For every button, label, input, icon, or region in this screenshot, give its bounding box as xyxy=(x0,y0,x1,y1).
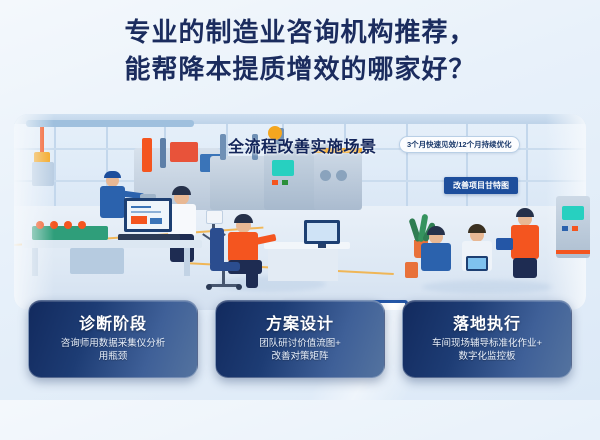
chair-column xyxy=(222,271,225,285)
attendee-torso xyxy=(421,243,451,271)
shadow xyxy=(422,280,552,294)
stage-card-title: 落地执行 xyxy=(453,315,521,334)
stage-desc-line-2: 数字化监控板 xyxy=(432,350,542,363)
floor-bin xyxy=(405,262,418,278)
machine-pipe xyxy=(160,138,166,168)
stage-card-solution-design[interactable]: 方案设计 团队研讨价值流图+ 改善对策矩阵 xyxy=(215,300,385,378)
part-item xyxy=(36,221,44,229)
data-collector-device xyxy=(206,210,223,224)
presenter-torso xyxy=(511,225,539,259)
stage-card-diagnosis[interactable]: 诊断阶段 咨询师用数据采集仪分析 用瓶颈 xyxy=(28,300,198,378)
stage-card-title: 方案设计 xyxy=(266,315,334,334)
machine-column xyxy=(220,134,226,160)
workbench-leg xyxy=(32,248,38,276)
laptop-display xyxy=(468,258,486,269)
stage-desc-line-1: 团队研讨价值流图+ xyxy=(259,337,341,350)
worker-torso xyxy=(100,186,125,218)
chair-caster xyxy=(206,284,212,290)
chair-back xyxy=(210,228,224,266)
chair-caster xyxy=(236,284,242,290)
machine-button xyxy=(272,180,278,185)
stage-desc-line-2: 用瓶颈 xyxy=(61,350,166,363)
person-shin xyxy=(246,266,258,288)
desktop-monitor-screen xyxy=(307,223,337,241)
part-item xyxy=(50,221,58,229)
machine-hmi-screen xyxy=(272,160,294,176)
gantt-panel-title: 改善项目甘特图 xyxy=(444,177,518,194)
page-title: 专业的制造业咨询机构推荐， 能帮降本提质增效的哪家好？ xyxy=(0,14,600,88)
monitor-stand xyxy=(318,244,326,248)
part-item xyxy=(78,221,86,229)
stage-card-list: 诊断阶段 咨询师用数据采集仪分析 用瓶颈 方案设计 团队研讨价值流图+ 改善对策… xyxy=(0,300,600,378)
stage-card-description: 咨询师用数据采集仪分析 用瓶颈 xyxy=(61,337,166,363)
stage-desc-line-2: 改善对策矩阵 xyxy=(259,350,341,363)
screen-bar xyxy=(131,216,147,224)
screen-line xyxy=(131,211,161,213)
workbench-leg xyxy=(184,248,190,276)
window-mullion xyxy=(54,114,56,206)
roller xyxy=(320,170,331,181)
roller xyxy=(336,170,347,181)
chair-seat xyxy=(210,262,240,271)
stage-card-description: 团队研讨价值流图+ 改善对策矩阵 xyxy=(259,337,341,363)
workbench-top xyxy=(22,240,202,248)
machine-pipe xyxy=(142,138,152,172)
part-item xyxy=(64,221,72,229)
stage-card-title: 诊断阶段 xyxy=(79,315,147,334)
stage-desc-line-1: 车间现场辅导标准化作业+ xyxy=(432,337,542,350)
screen-line xyxy=(131,206,151,208)
person-torso xyxy=(228,232,258,262)
presenter-legs xyxy=(513,258,537,278)
crane-load xyxy=(32,162,54,186)
worker-cap xyxy=(104,171,121,178)
crane-rail xyxy=(26,120,194,127)
scene-subtitle: 全流程改善实施场景 xyxy=(228,133,377,157)
machine-valve xyxy=(170,142,198,162)
timeline-badge: 3个月快速见效/12个月持续优化 xyxy=(399,136,520,153)
screen-bar xyxy=(150,218,162,224)
control-screen xyxy=(562,206,584,220)
control-button xyxy=(562,226,568,231)
machine-rollers xyxy=(314,152,362,210)
headline-line-2: 能帮降本提质增效的哪家好？ xyxy=(0,51,600,88)
control-button xyxy=(572,226,578,231)
headline-line-1: 专业的制造业咨询机构推荐， xyxy=(0,14,600,51)
bench-cabinet xyxy=(70,248,124,274)
machine-button xyxy=(282,180,288,185)
cabinet-stripe xyxy=(556,250,590,254)
tablet-device xyxy=(496,238,513,250)
crane-cable xyxy=(40,127,44,153)
stage-card-execution[interactable]: 落地执行 车间现场辅导标准化作业+ 数字化监控板 xyxy=(402,300,572,378)
desk-body xyxy=(268,249,338,281)
stage-desc-line-1: 咨询师用数据采集仪分析 xyxy=(61,337,166,350)
stage-card-description: 车间现场辅导标准化作业+ 数字化监控板 xyxy=(432,337,542,363)
